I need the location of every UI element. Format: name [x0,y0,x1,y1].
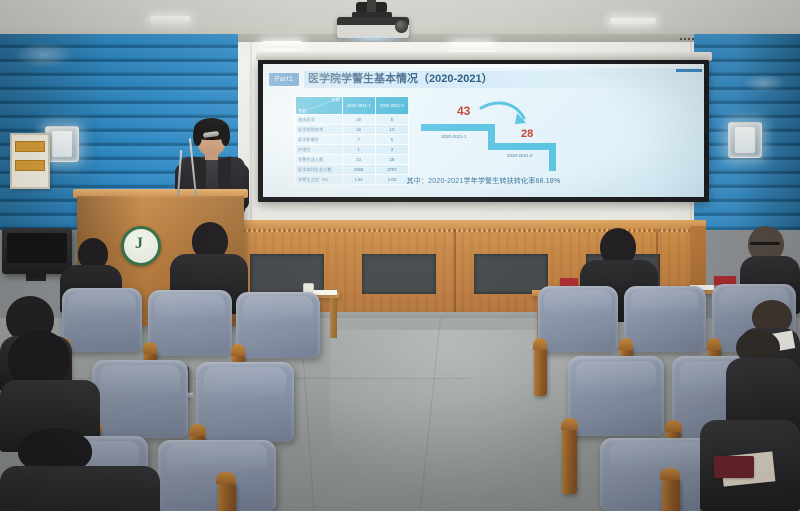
table-cell: 3 [375,145,408,155]
table-corner-row-label: 专业 [298,108,306,114]
slide-part-badge: Part1 [269,73,299,86]
chart-step-bar-second [488,143,556,150]
audience-person [0,428,160,511]
framed-notice-board [10,133,50,189]
emblem-letter: J [129,233,149,255]
seat-back [236,292,320,358]
table-head: 学期 专业 2020-2021-1 2020-2021-2 [296,97,409,115]
wall-light-reflection [742,74,786,92]
seat-back [624,286,706,352]
table-header-row: 学期 专业 2020-2021-1 2020-2021-2 [296,97,409,115]
seat-back [538,286,618,352]
table-row-label: 护理学 [296,145,343,155]
seat-armrest-top [143,342,157,354]
wall-sconce-light [728,122,762,158]
table-cell: 5 [375,115,408,125]
seat-armrest-top [561,418,578,430]
seat-back [568,356,664,436]
chart-label-second: 2020-2021-2 [507,153,533,158]
lecture-hall-photo: Part1 医学院学警生基本情况（2020-2021） 学期 专业 2020-2… [0,0,800,511]
seat-back [196,362,294,442]
seat-armrest [218,480,236,511]
wall-sconce-light [45,126,79,162]
table-row: 护理学 1 3 [296,145,409,155]
table-row: 临床医学 19 5 [296,115,409,125]
table-cell: 19 [342,115,375,125]
ceiling-light [150,16,190,22]
wall-seam [250,42,252,220]
table-row-label: 医学影像学 [296,135,343,145]
table-cell: 43 [342,155,375,165]
table-row-label: 医学本科生总人数 [296,165,343,175]
seat-armrest-top [665,420,682,432]
slide-step-chart: 43 28 2020-2021-1 2020-2021-2 [415,98,595,170]
desk-seam [454,229,456,318]
slide-top-accent [263,64,704,68]
chart-step-foot [549,164,555,171]
seat-armrest-top [660,468,680,480]
presenter-hair-side [221,126,230,146]
table-cell: 6 [375,135,408,145]
auditorium-seat[interactable] [568,356,664,436]
person-torso [0,466,160,511]
presenter-eye [203,138,207,140]
table-cell: 1 [342,145,375,155]
desk-panel [474,254,548,294]
table-col-header: 2020-2021-1 [342,97,375,115]
table-cell: 13 [375,125,408,135]
red-folder [560,278,578,286]
chart-value-first: 43 [457,104,470,118]
seat-back [92,360,188,438]
projection-screen: Part1 医学院学警生基本情况（2020-2021） 学期 专业 2020-2… [263,64,704,197]
table-corner-cell: 学期 专业 [296,97,343,115]
seat-armrest [662,476,680,511]
presenter-lapel [218,156,231,192]
ceiling-light [452,43,492,50]
table-cell: 28 [375,155,408,165]
presenter-hair-side [193,126,202,146]
slide-title: 医学院学警生基本情况（2020-2021） [304,71,694,88]
wall-light-reflection [14,42,74,68]
table-row: 学警生总人数 43 28 [296,155,409,165]
slide-data-table: 学期 专业 2020-2021-1 2020-2021-2 临床医学 19 5 [295,96,409,185]
side-desk-leg [330,298,337,338]
table-cell: 2668 [342,165,375,175]
table-cell: 16 [342,125,375,135]
chart-value-second: 28 [521,128,533,140]
ceiling-light [262,41,302,48]
projector-lens-icon [395,20,408,33]
table-corner-col-label: 学期 [331,97,339,103]
auditorium-seat[interactable] [158,440,276,511]
table-body: 临床医学 19 5 医学检验技术 16 13 医学影像学 7 6 [296,115,409,185]
desk-panel [362,254,436,294]
university-emblem-icon: J [121,226,161,266]
auditorium-seat[interactable] [196,362,294,442]
table-row: 医学影像学 7 6 [296,135,409,145]
seat-armrest-top [533,338,547,350]
seat-armrest-top [707,338,721,350]
table-col-header: 2020-2021-2 [375,97,408,115]
notice-bar [15,160,45,171]
seat-armrest [562,426,577,494]
table-cell: 7 [342,135,375,145]
auditorium-seat[interactable] [148,290,232,356]
seat-armrest-top [189,424,206,436]
eyeglasses-icon [750,242,780,245]
notice-bar [15,141,45,152]
auditorium-seat[interactable] [624,286,706,352]
table-row: 医学检验技术 16 13 [296,125,409,135]
auditorium-seat[interactable] [236,292,320,358]
slide-footer-note: 其中：2020-2021学年学警生转扶转化率68.18% [263,176,704,186]
seat-armrest-top [216,472,236,484]
auditorium-seat[interactable] [92,360,188,438]
auditorium-seat[interactable] [538,286,618,352]
seat-armrest-top [619,338,633,350]
table-row: 医学本科生总人数 2668 2707 [296,165,409,175]
ceiling-light [610,18,656,24]
table-row-label: 医学检验技术 [296,125,343,135]
slide-title-tick [676,69,702,72]
table-cell: 2707 [375,165,408,175]
red-bag [714,456,754,478]
presenter-eye [215,138,219,140]
seat-back [148,290,232,356]
chart-label-first: 2020-2021-1 [441,134,467,139]
seat-armrest [534,344,547,396]
table-row-label: 临床医学 [296,115,343,125]
monitor-screen [7,233,67,263]
projection-screen-frame: Part1 医学院学警生基本情况（2020-2021） 学期 专业 2020-2… [258,60,709,202]
seat-armrest-top [231,344,245,356]
table-row-label: 学警生总人数 [296,155,343,165]
